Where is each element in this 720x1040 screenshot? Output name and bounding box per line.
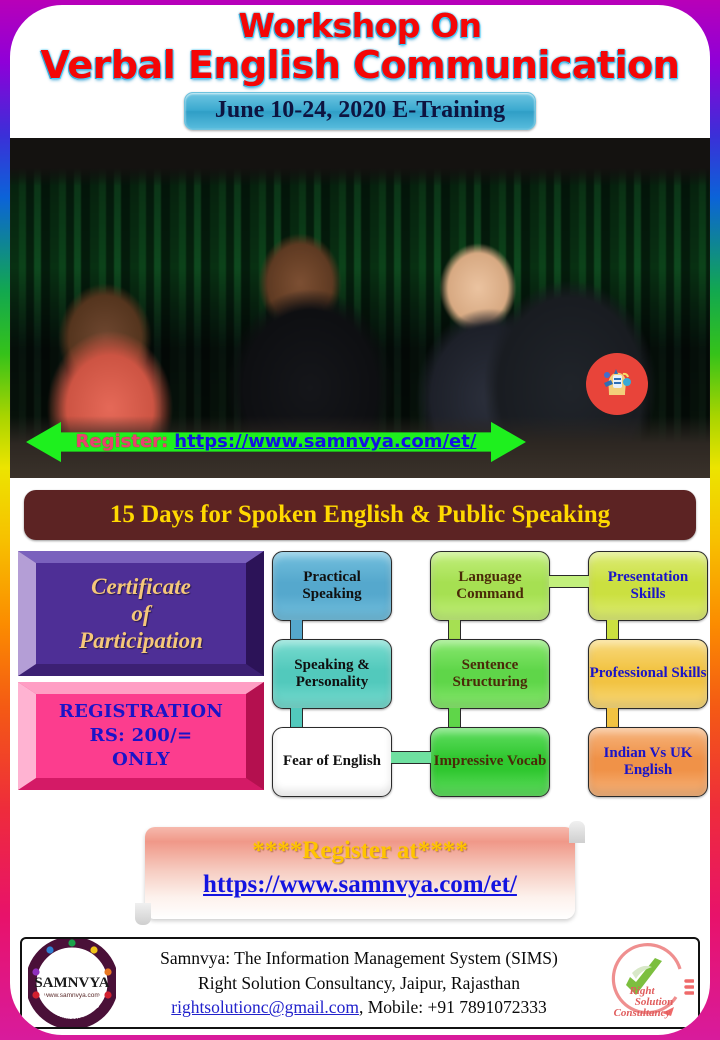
certificate-box: Certificate of Participation xyxy=(18,551,264,676)
fee-line1: REGISTRATION xyxy=(59,700,223,724)
register-ribbon-url[interactable]: https://www.samnvya.com/et/ xyxy=(145,865,575,899)
topic-label: Sentence Structuring xyxy=(431,657,549,691)
poster-page: Workshop On Verbal English Communication… xyxy=(10,5,710,1035)
topic-label: Professional Skills xyxy=(590,665,707,682)
footer-contact-text: Samnvya: The Information Management Syst… xyxy=(116,946,602,1021)
topic-label: Practical Speaking xyxy=(273,569,391,603)
footer-line2: Right Solution Consultancy, Jaipur, Raja… xyxy=(116,971,602,996)
register-arrow-banner[interactable]: Register:https://www.samnvya.com/et/ xyxy=(26,418,526,466)
samnvya-logo: SAMNVYA www.samnvya.com The Information … xyxy=(28,939,116,1027)
right-solution-logo: Right Solution Consultancy xyxy=(602,939,694,1027)
topic-label: Presentation Skills xyxy=(589,569,707,603)
topic-box: Sentence Structuring xyxy=(430,639,550,709)
topic-box: Professional Skills xyxy=(588,639,708,709)
topic-box: Practical Speaking xyxy=(272,551,392,621)
tagline-banner: 15 Days for Spoken English & Public Spea… xyxy=(24,490,696,540)
register-ribbon-line1: ****Register at**** xyxy=(145,827,575,865)
topic-box: Speaking & Personality xyxy=(272,639,392,709)
register-arrow-text: Register:https://www.samnvya.com/et/ xyxy=(26,433,526,451)
topics-grid: Practical SpeakingSpeaking & Personality… xyxy=(272,551,702,813)
register-ribbon[interactable]: ****Register at**** https://www.samnvya.… xyxy=(145,827,575,919)
register-url-top[interactable]: https://www.samnvya.com/et/ xyxy=(174,431,476,452)
middle-section: Certificate of Participation REGISTRATIO… xyxy=(10,551,710,821)
footer-line1: Samnvya: The Information Management Syst… xyxy=(116,946,602,971)
poster-root: Workshop On Verbal English Communication… xyxy=(0,0,720,1040)
certificate-line2: of xyxy=(131,600,150,627)
connector-horizontal xyxy=(549,575,589,588)
topic-label: Speaking & Personality xyxy=(273,657,391,691)
topic-label: Indian Vs UK English xyxy=(589,745,707,779)
brain-idea-icon xyxy=(586,353,648,415)
connector-vertical xyxy=(606,708,619,728)
topic-box: Presentation Skills xyxy=(588,551,708,621)
certificate-line1: Certificate xyxy=(91,573,191,600)
registration-fee-box: REGISTRATION RS: 200/= ONLY xyxy=(18,682,264,790)
topic-label: Fear of English xyxy=(283,753,381,770)
page-title-line1: Workshop On xyxy=(10,9,710,42)
topic-label: Language Command xyxy=(431,569,549,603)
connector-vertical xyxy=(448,708,461,728)
connector-horizontal xyxy=(391,751,431,764)
topic-box: Language Command xyxy=(430,551,550,621)
fee-line3: ONLY xyxy=(112,748,170,772)
footer-mobile: , Mobile: +91 7891072333 xyxy=(359,997,547,1017)
certificate-line3: Participation xyxy=(79,627,203,654)
photo-top-shade xyxy=(10,138,710,186)
fee-line2: RS: 200/= xyxy=(90,724,193,748)
topic-label: Impressive Vocab xyxy=(434,753,547,770)
connector-vertical xyxy=(290,708,303,728)
register-label: Register: xyxy=(76,431,169,452)
samnvya-logo-name: SAMNVYA xyxy=(34,975,109,991)
topic-box: Impressive Vocab xyxy=(430,727,550,797)
footer: SAMNVYA www.samnvya.com The Information … xyxy=(20,937,700,1029)
date-badge: June 10-24, 2020 E-Training xyxy=(184,92,536,130)
connector-vertical xyxy=(448,620,461,640)
poster-header: Workshop On Verbal English Communication… xyxy=(10,5,710,130)
footer-line3: rightsolutionc@gmail.com, Mobile: +91 78… xyxy=(116,995,602,1020)
page-title-line2: Verbal English Communication xyxy=(10,46,710,84)
topic-box: Indian Vs UK English xyxy=(588,727,708,797)
samnvya-logo-site: www.samnvya.com xyxy=(43,992,100,999)
connector-vertical xyxy=(290,620,303,640)
connector-vertical xyxy=(606,620,619,640)
tagline-text: 15 Days for Spoken English & Public Spea… xyxy=(110,501,610,529)
footer-email[interactable]: rightsolutionc@gmail.com xyxy=(171,997,359,1017)
topic-box: Fear of English xyxy=(272,727,392,797)
rsc-logo-line3: Consultancy xyxy=(614,1007,671,1019)
